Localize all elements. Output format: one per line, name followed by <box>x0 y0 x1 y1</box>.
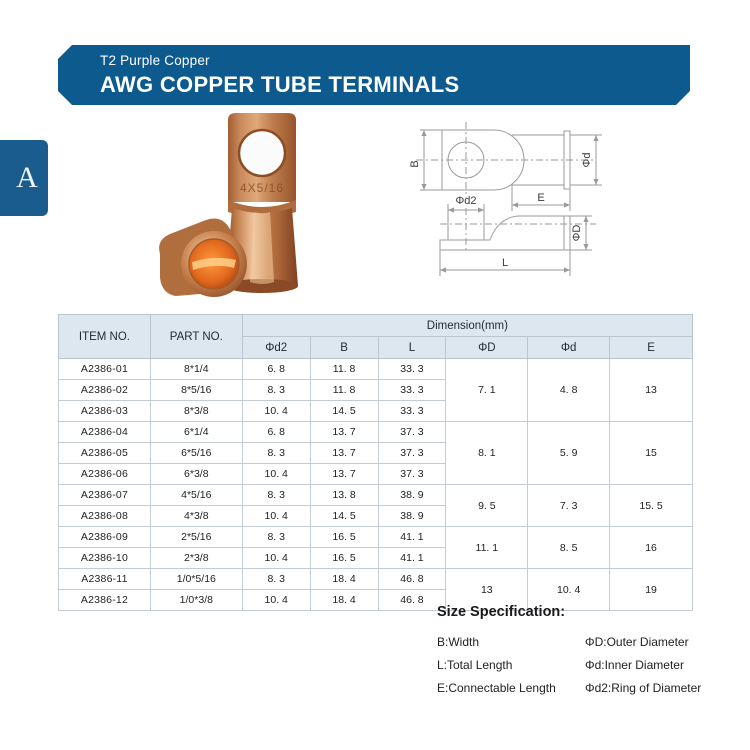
cell-phid: 7. 3 <box>528 485 610 527</box>
cell-phid2: 6. 8 <box>242 422 310 443</box>
specification-table: ITEM NO. PART NO. Dimension(mm) Φd2 B L … <box>58 314 693 611</box>
cell-phiD: 9. 5 <box>446 485 528 527</box>
cell-phid2: 10. 4 <box>242 590 310 611</box>
col-header-l: L <box>378 337 446 359</box>
cell-part-no: 4*5/16 <box>150 485 242 506</box>
cell-item-no: A2386-10 <box>59 548 151 569</box>
table-row: A2386-092*5/168. 316. 541. 111. 18. 516 <box>59 527 693 548</box>
cell-item-no: A2386-02 <box>59 380 151 401</box>
dim-label-e: E <box>537 192 544 204</box>
legend-term-right: Φd2:Ring of Diameter <box>585 677 745 700</box>
col-header-item-no: ITEM NO. <box>59 315 151 359</box>
cell-l: 38. 9 <box>378 485 446 506</box>
cell-l: 33. 3 <box>378 380 446 401</box>
product-photo-svg: 4X5/16 <box>150 108 400 300</box>
cell-b: 16. 5 <box>310 548 378 569</box>
cell-l: 37. 3 <box>378 464 446 485</box>
cell-item-no: A2386-11 <box>59 569 151 590</box>
cell-b: 13. 7 <box>310 443 378 464</box>
cell-phid2: 8. 3 <box>242 569 310 590</box>
dim-label-l: L <box>502 257 508 269</box>
cell-item-no: A2386-07 <box>59 485 151 506</box>
cell-item-no: A2386-05 <box>59 443 151 464</box>
cell-item-no: A2386-09 <box>59 527 151 548</box>
cell-l: 41. 1 <box>378 527 446 548</box>
cell-b: 11. 8 <box>310 380 378 401</box>
cell-b: 11. 8 <box>310 359 378 380</box>
cell-e: 15 <box>610 422 693 485</box>
table-body: A2386-018*1/46. 811. 833. 37. 14. 813A23… <box>59 359 693 611</box>
dim-label-phid2: Φd2 <box>455 195 476 207</box>
banner-title: AWG COPPER TUBE TERMINALS <box>100 71 690 99</box>
cell-b: 14. 5 <box>310 506 378 527</box>
drawing-top-view: B E Φd <box>409 122 602 211</box>
cell-phid2: 8. 3 <box>242 527 310 548</box>
header-banner: T2 Purple Copper AWG COPPER TUBE TERMINA… <box>58 45 690 105</box>
cell-phiD: 7. 1 <box>446 359 528 422</box>
cell-phid2: 8. 3 <box>242 380 310 401</box>
cell-phiD: 11. 1 <box>446 527 528 569</box>
table-header: ITEM NO. PART NO. Dimension(mm) Φd2 B L … <box>59 315 693 359</box>
legend-row: L:Total LengthΦd:Inner Diameter <box>437 654 747 677</box>
cell-phiD: 8. 1 <box>446 422 528 485</box>
cell-b: 13. 7 <box>310 422 378 443</box>
cell-part-no: 6*1/4 <box>150 422 242 443</box>
cell-part-no: 1/0*5/16 <box>150 569 242 590</box>
cell-phid2: 10. 4 <box>242 506 310 527</box>
cell-phid2: 10. 4 <box>242 401 310 422</box>
cell-part-no: 6*5/16 <box>150 443 242 464</box>
cell-phid2: 8. 3 <box>242 485 310 506</box>
legend-row: B:WidthΦD:Outer Diameter <box>437 631 747 654</box>
cell-b: 18. 4 <box>310 569 378 590</box>
cell-item-no: A2386-06 <box>59 464 151 485</box>
cell-part-no: 2*3/8 <box>150 548 242 569</box>
cell-l: 41. 1 <box>378 548 446 569</box>
cell-phid2: 8. 3 <box>242 443 310 464</box>
cell-b: 18. 4 <box>310 590 378 611</box>
col-header-phiD: ΦD <box>446 337 528 359</box>
cell-phid2: 10. 4 <box>242 464 310 485</box>
cell-part-no: 8*5/16 <box>150 380 242 401</box>
cell-item-no: A2386-04 <box>59 422 151 443</box>
cell-l: 37. 3 <box>378 443 446 464</box>
cell-l: 33. 3 <box>378 359 446 380</box>
cell-phid: 5. 9 <box>528 422 610 485</box>
cell-b: 13. 8 <box>310 485 378 506</box>
cell-l: 46. 8 <box>378 569 446 590</box>
cell-b: 13. 7 <box>310 464 378 485</box>
cell-part-no: 4*3/8 <box>150 506 242 527</box>
col-header-e: E <box>610 337 693 359</box>
dim-label-phiD: ΦD <box>571 225 583 242</box>
table-header-row-1: ITEM NO. PART NO. Dimension(mm) <box>59 315 693 337</box>
cell-phid: 8. 5 <box>528 527 610 569</box>
cell-e: 16 <box>610 527 693 569</box>
cell-part-no: 1/0*3/8 <box>150 590 242 611</box>
cell-e: 13 <box>610 359 693 422</box>
size-specification-legend: Size Specification: B:WidthΦD:Outer Diam… <box>437 604 747 700</box>
table-row: A2386-046*1/46. 813. 737. 38. 15. 915 <box>59 422 693 443</box>
legend-title: Size Specification: <box>437 604 747 620</box>
dim-label-b: B <box>409 160 421 167</box>
dim-label-phid: Φd <box>581 153 593 168</box>
legend-rows: B:WidthΦD:Outer DiameterL:Total LengthΦd… <box>437 631 747 700</box>
col-header-part-no: PART NO. <box>150 315 242 359</box>
cell-part-no: 8*1/4 <box>150 359 242 380</box>
col-header-b: B <box>310 337 378 359</box>
cell-item-no: A2386-01 <box>59 359 151 380</box>
product-spec-sheet: A T2 Purple Copper AWG COPPER TUBE TERMI… <box>0 0 750 750</box>
legend-term-left: B:Width <box>437 631 585 654</box>
section-index-letter: A <box>10 163 38 193</box>
cell-part-no: 2*5/16 <box>150 527 242 548</box>
cell-item-no: A2386-03 <box>59 401 151 422</box>
legend-term-left: L:Total Length <box>437 654 585 677</box>
banner-subtitle: T2 Purple Copper <box>100 51 690 70</box>
technical-drawing-svg: B E Φd <box>400 112 745 292</box>
cell-l: 33. 3 <box>378 401 446 422</box>
legend-term-left: E:Connectable Length <box>437 677 585 700</box>
cell-phid: 4. 8 <box>528 359 610 422</box>
cell-l: 38. 9 <box>378 506 446 527</box>
cell-item-no: A2386-12 <box>59 590 151 611</box>
legend-term-right: Φd:Inner Diameter <box>585 654 745 677</box>
table-row: A2386-111/0*5/168. 318. 446. 81310. 419 <box>59 569 693 590</box>
cell-part-no: 6*3/8 <box>150 464 242 485</box>
cell-part-no: 8*3/8 <box>150 401 242 422</box>
cell-b: 14. 5 <box>310 401 378 422</box>
legend-row: E:Connectable LengthΦd2:Ring of Diameter <box>437 677 747 700</box>
cell-l: 46. 8 <box>378 590 446 611</box>
technical-drawing: B E Φd <box>400 112 745 292</box>
cell-phid2: 6. 8 <box>242 359 310 380</box>
col-header-dimension-group: Dimension(mm) <box>242 315 692 337</box>
cell-e: 15. 5 <box>610 485 693 527</box>
cell-b: 16. 5 <box>310 527 378 548</box>
section-index-tab: A <box>0 140 48 216</box>
col-header-phid2: Φd2 <box>242 337 310 359</box>
table-row: A2386-018*1/46. 811. 833. 37. 14. 813 <box>59 359 693 380</box>
cell-phid2: 10. 4 <box>242 548 310 569</box>
cell-item-no: A2386-08 <box>59 506 151 527</box>
product-photo: 4X5/16 <box>150 108 400 300</box>
product-stamp-text: 4X5/16 <box>240 181 284 195</box>
legend-term-right: ΦD:Outer Diameter <box>585 631 745 654</box>
cell-l: 37. 3 <box>378 422 446 443</box>
col-header-phid: Φd <box>528 337 610 359</box>
table-row: A2386-074*5/168. 313. 838. 99. 57. 315. … <box>59 485 693 506</box>
